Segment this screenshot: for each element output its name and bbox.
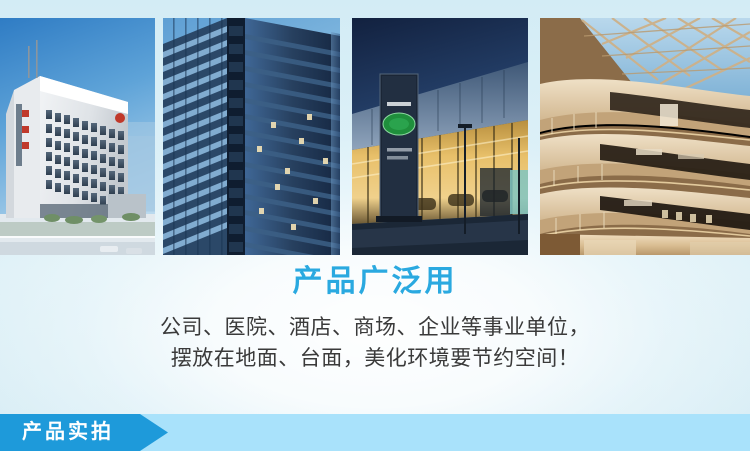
promo-text-block: 产品广泛用 公司、医院、酒店、商场、企业等事业单位， 摆放在地面、台面，美化环境… [0, 262, 750, 374]
product-detail-page: 产品广泛用 公司、医院、酒店、商场、企业等事业单位， 摆放在地面、台面，美化环境… [0, 0, 750, 451]
photo-office-building [0, 18, 155, 255]
promo-headline: 产品广泛用 [0, 262, 750, 302]
section-banner: 产品实拍 [0, 414, 750, 451]
section-banner-label: 产品实拍 [22, 414, 114, 451]
promo-line-1: 公司、医院、酒店、商场、企业等事业单位， [0, 312, 750, 343]
photo-glass-skyscraper [163, 18, 340, 255]
promo-line-2: 摆放在地面、台面，美化环境要节约空间！ [0, 343, 750, 374]
application-scenes-photo-strip [0, 18, 750, 255]
photo-shopping-mall [540, 18, 750, 255]
photo-car-showroom [352, 18, 528, 255]
